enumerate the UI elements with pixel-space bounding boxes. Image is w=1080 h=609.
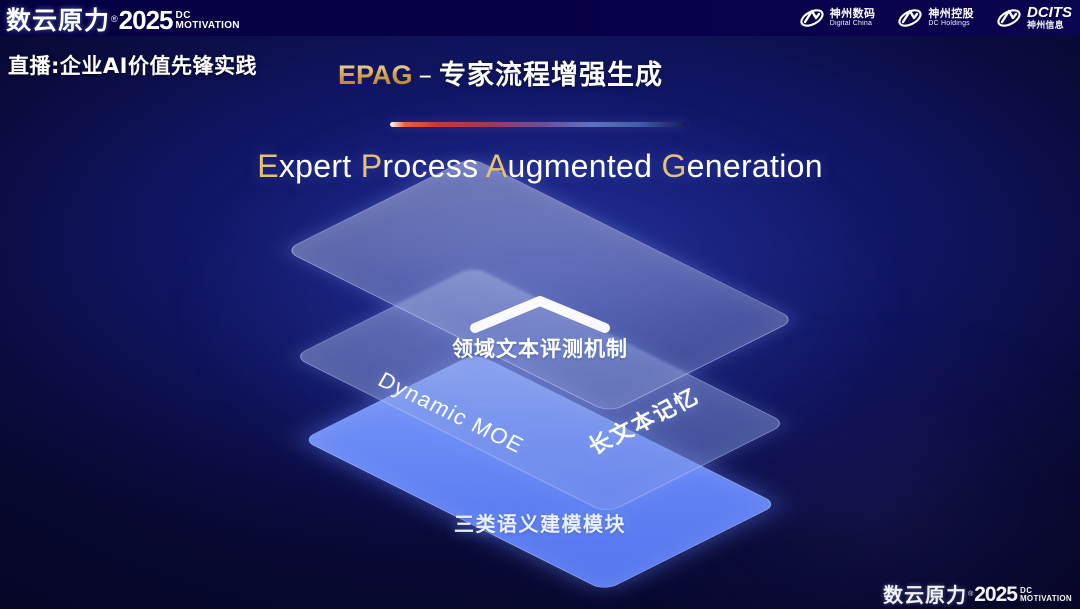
logo-digital-china: 神州数码 Digital China [799, 7, 876, 29]
live-broadcast-label: 直播:企业AI价值先锋实践 [8, 50, 257, 80]
logo-text: 神州控股 DC Holdings [928, 9, 974, 28]
gradient-divider [390, 122, 686, 127]
brand-year: 2025 [119, 7, 173, 33]
slide-canvas: 数云原力 ® 2025 DC MOTIVATION 神州数码 Digital C… [0, 0, 1080, 609]
watermark-registered: ® [968, 591, 973, 598]
header-bar: 数云原力 ® 2025 DC MOTIVATION 神州数码 Digital C… [0, 0, 1080, 36]
watermark-dc-motivation: DC MOTIVATION [1020, 587, 1072, 603]
logo-name-cn: 神州信息 [1027, 21, 1072, 30]
subtitle-word-expert: Expert [257, 148, 351, 184]
logo-text: DCITS 神州信息 [1027, 5, 1072, 30]
swirl-icon [897, 7, 923, 29]
logo-name-en: DCITS [1027, 5, 1072, 21]
subtitle-rest-expert: xpert [279, 148, 352, 184]
watermark-name-cn: 数云原力 [883, 585, 967, 605]
subtitle-word-generation: Generation [661, 148, 822, 184]
logo-text: 神州数码 Digital China [830, 9, 876, 28]
title-acronym: EPAG [338, 60, 413, 90]
swirl-icon [996, 7, 1022, 29]
brand-motivation: MOTIVATION [176, 21, 240, 31]
logo-name-en: Digital China [830, 20, 876, 27]
watermark-motivation: MOTIVATION [1020, 595, 1072, 603]
title-dash: – [419, 60, 434, 91]
brand-dc-motivation: DC MOTIVATION [176, 11, 240, 31]
layer-plate-top [284, 157, 796, 413]
registered-mark: ® [111, 15, 118, 24]
logo-dcits: DCITS 神州信息 [996, 5, 1072, 30]
page-title: EPAG–专家流程增强生成 [338, 53, 663, 92]
subtitle-rest-augmented: ugmented [508, 148, 653, 184]
subtitle-cap-e: E [257, 148, 279, 184]
subtitle-rest-process: rocess [382, 148, 478, 184]
watermark-logo: 数云原力 ® 2025 DC MOTIVATION [883, 584, 1072, 605]
subtitle-expansion: Expert Process Augmented Generation [0, 148, 1080, 185]
brand-name-cn: 数云原力 [6, 8, 110, 33]
subtitle-cap-p: P [361, 148, 383, 184]
title-chinese: 专家流程增强生成 [439, 60, 663, 91]
subtitle-cap-a: A [486, 148, 508, 184]
brand-logo: 数云原力 ® 2025 DC MOTIVATION [6, 1, 240, 33]
watermark-year: 2025 [974, 584, 1017, 605]
logo-name-cn: 神州数码 [830, 9, 876, 21]
swirl-icon [799, 7, 825, 29]
subtitle-rest-generation: eneration [687, 148, 823, 184]
logo-name-en: DC Holdings [928, 20, 974, 27]
subtitle-word-process: Process [361, 148, 479, 184]
subtitle-cap-g: G [661, 148, 686, 184]
corporate-logos: 神州数码 Digital China 神州控股 DC Holdings [799, 3, 1072, 33]
layer-label-bottom: 三类语义建模模块 [0, 508, 1080, 537]
logo-name-cn: 神州控股 [928, 9, 974, 21]
logo-dc-holdings: 神州控股 DC Holdings [897, 7, 974, 29]
subtitle-word-augmented: Augmented [486, 148, 652, 184]
layer-label-top: 领域文本评测机制 [0, 333, 1080, 363]
